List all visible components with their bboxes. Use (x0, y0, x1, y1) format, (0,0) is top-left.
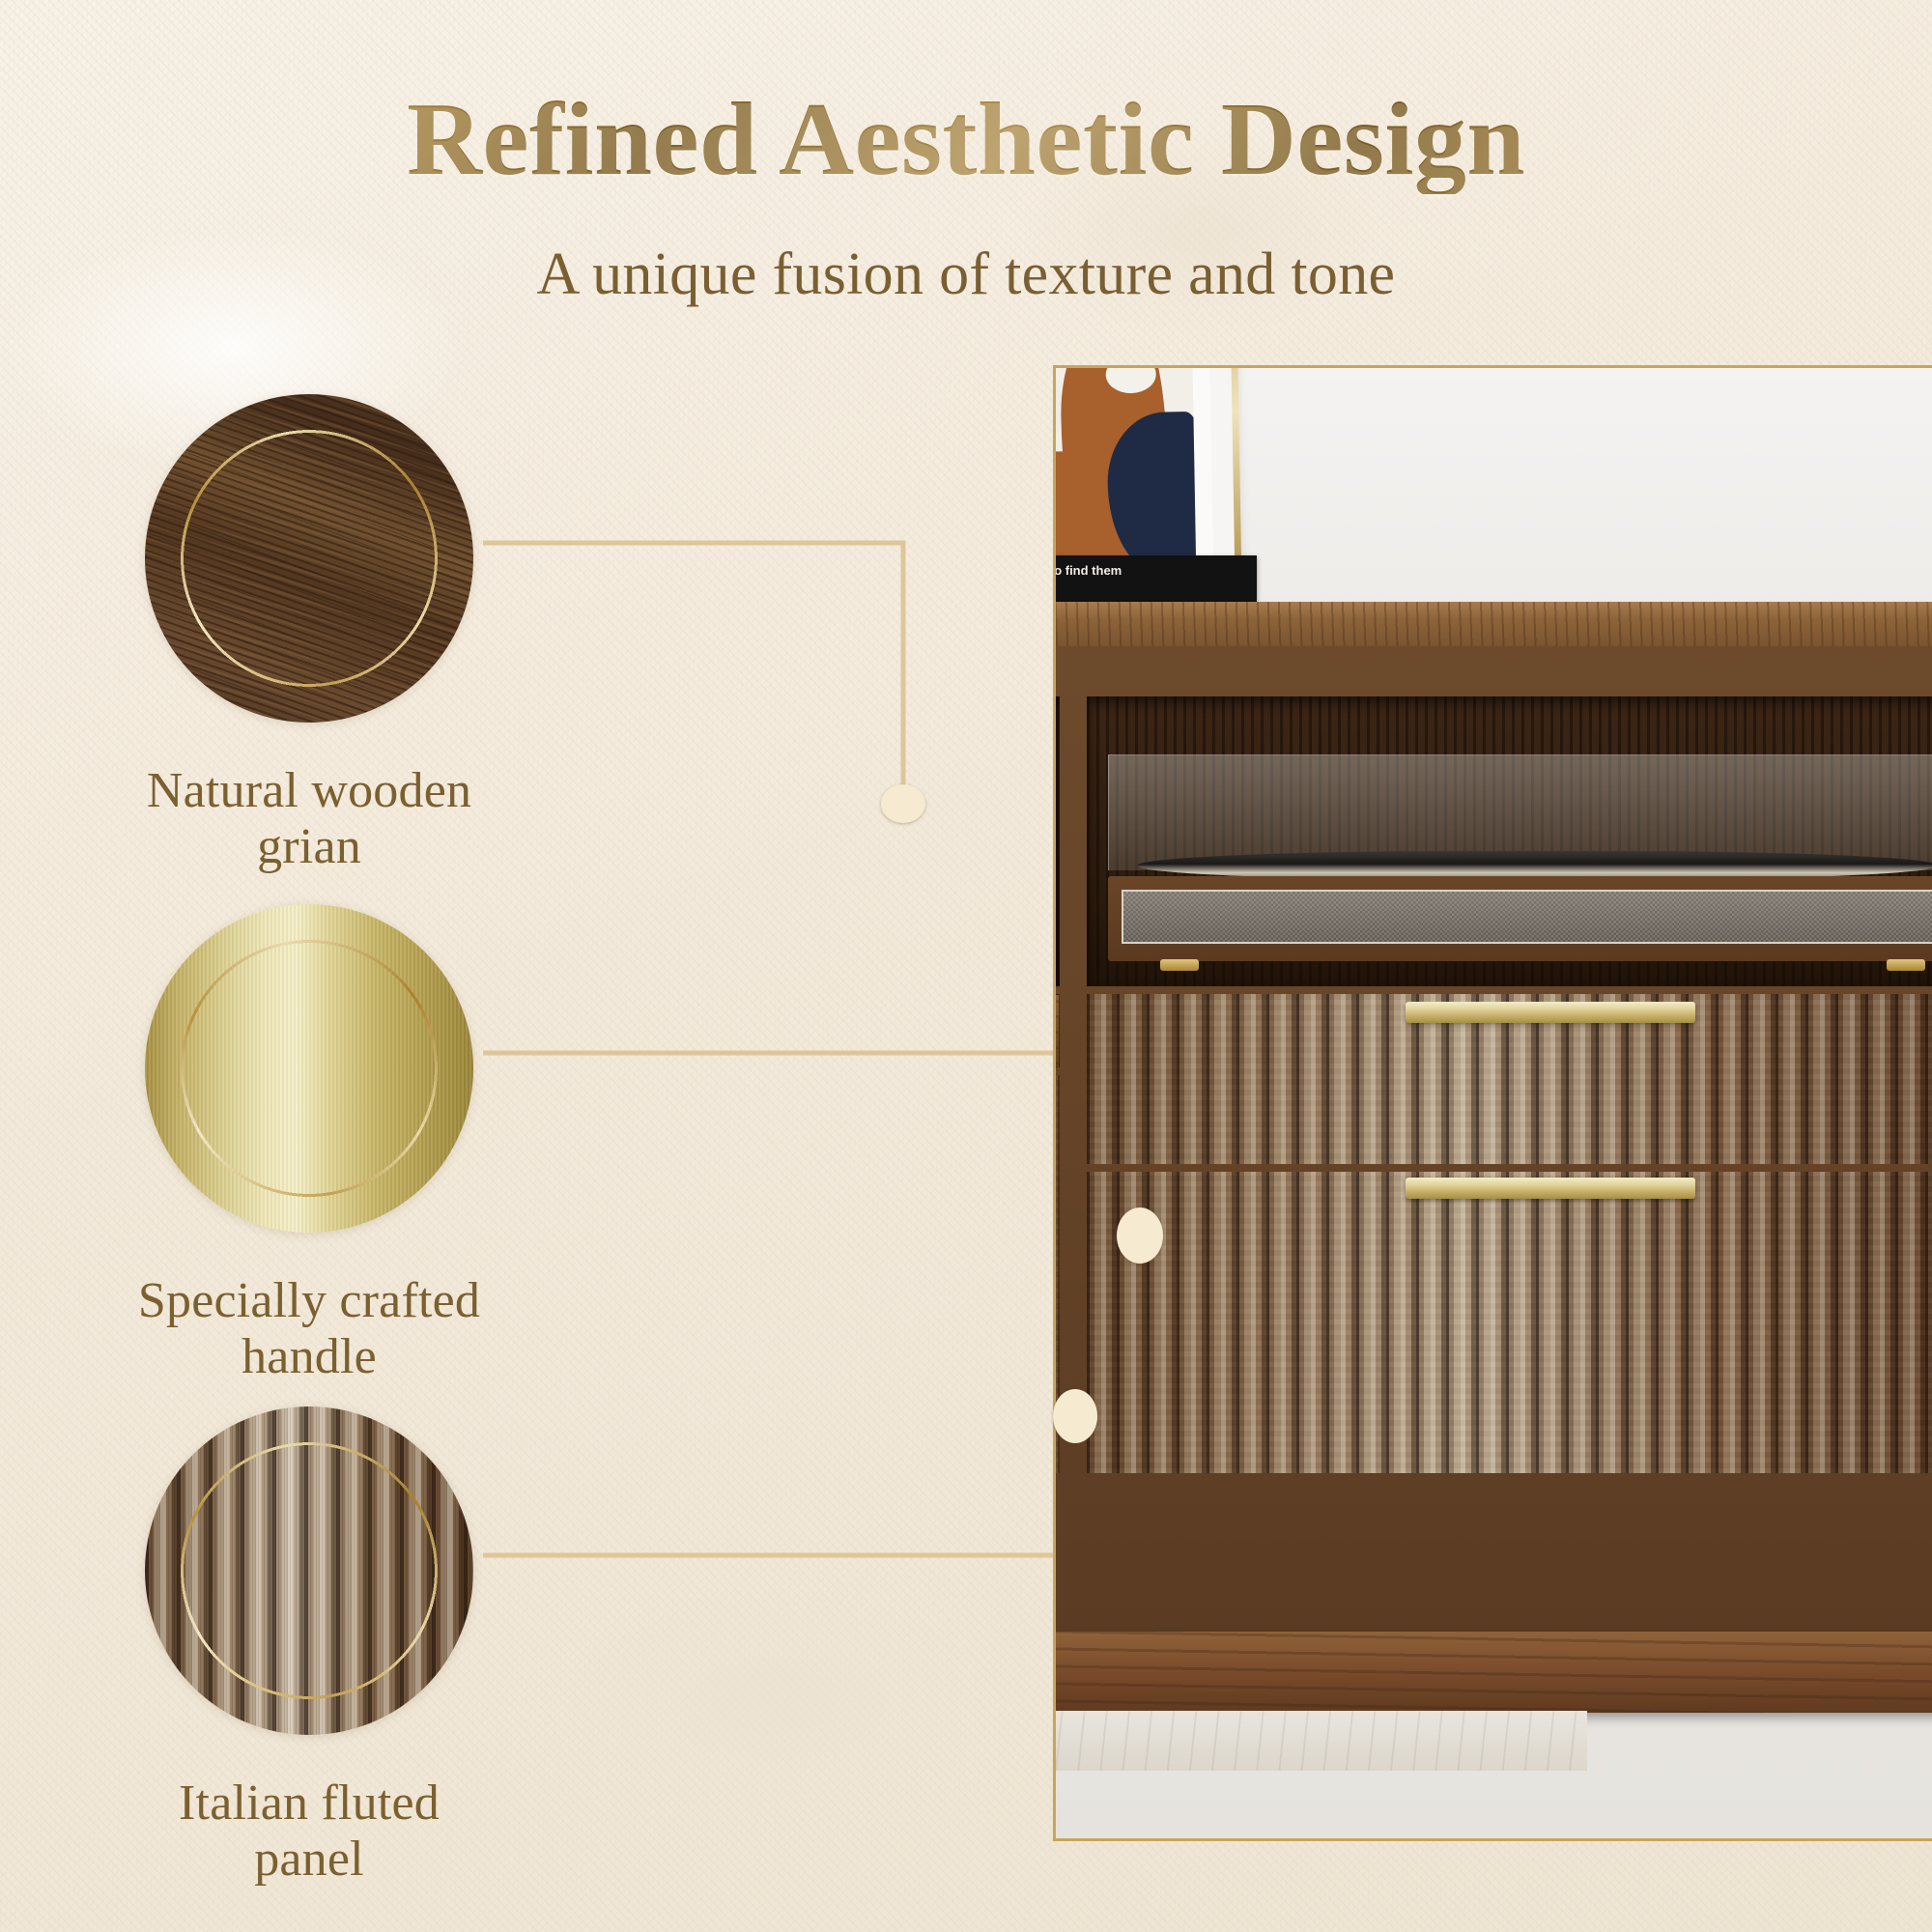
feature-1-label: Natural wooden grian (106, 763, 512, 875)
art-canvas (1056, 368, 1196, 566)
callout-dot-handle (1117, 1207, 1163, 1264)
gold-ring-icon (128, 377, 491, 740)
callout-dot-wood-grain (881, 784, 925, 823)
fluted-panel-surface (1087, 1172, 1932, 1473)
turntable-brass-foot (1160, 959, 1199, 971)
feature-specially-crafted-handle[interactable]: Specially crafted handle (106, 904, 512, 1385)
turntable-body (1108, 876, 1932, 961)
fluted-drawer-bottom-right[interactable] (1087, 1172, 1932, 1473)
feature-3-label-line1: Italian fluted (106, 1776, 512, 1832)
fluted-drawer-top-right[interactable] (1087, 994, 1932, 1164)
feature-2-circle (145, 904, 473, 1233)
feature-2-label-line2: handle (106, 1329, 512, 1385)
feature-1-label-line1: Natural wooden (106, 763, 512, 819)
callout-dot-fluted (1053, 1389, 1097, 1443)
book-subtitle: designs for the gardens and where to fin… (1056, 562, 1122, 597)
turntable-speaker-grille (1122, 890, 1932, 944)
feature-3-circle (145, 1406, 473, 1735)
open-niche-right (1087, 696, 1932, 986)
feature-3-label: Italian fluted panel (106, 1776, 512, 1888)
room-floor (1056, 1711, 1587, 1771)
feature-2-label-line1: Specially crafted (106, 1273, 512, 1329)
cabinet-carcass (1056, 646, 1932, 1632)
feature-1-label-line2: grian (106, 819, 512, 875)
feature-3-label-line2: panel (106, 1832, 512, 1888)
feature-italian-fluted-panel[interactable]: Italian fluted panel (106, 1406, 512, 1888)
cabinet-plinth-base (1056, 1632, 1932, 1713)
feature-1-circle (145, 394, 473, 723)
feature-natural-wooden-grain[interactable]: Natural wooden grian (106, 394, 512, 875)
sideboard-cabinet: 1000 designs for the gardens and where t… (1056, 602, 1932, 1713)
gold-ring-icon (128, 1389, 491, 1752)
brass-bar-handle[interactable] (1406, 1002, 1695, 1023)
turntable-brass-foot (1887, 959, 1925, 971)
art-mat (1056, 368, 1213, 583)
product-photo: 1000 designs for the gardens and where t… (1056, 368, 1932, 1838)
book-line1: designs for the gardens and where to fin… (1056, 563, 1122, 578)
cabinet-top-slab (1056, 602, 1932, 646)
gold-ring-icon (128, 887, 491, 1250)
feature-2-label: Specially crafted handle (106, 1273, 512, 1385)
brass-bar-handle[interactable] (1406, 1178, 1695, 1199)
middle-drawer-left-bay[interactable] (1056, 994, 1060, 1067)
open-niche-left (1056, 696, 1060, 986)
design-book: 1000 designs for the gardens and where t… (1056, 555, 1257, 604)
